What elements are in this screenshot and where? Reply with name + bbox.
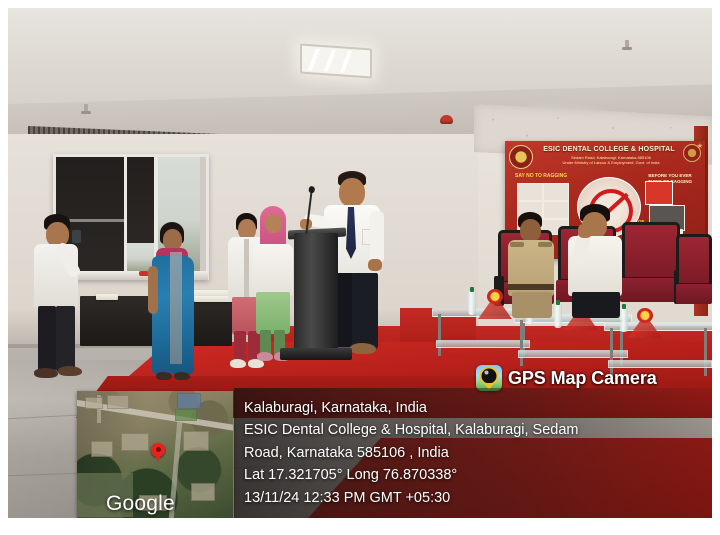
map-location-marker[interactable]: [151, 443, 165, 457]
map-provider-watermark: Google: [106, 492, 175, 516]
map-building: [121, 433, 149, 451]
banner-title: ESIC DENTAL COLLEGE & HOSPITAL: [519, 146, 699, 153]
sandal: [257, 352, 273, 361]
map-building: [177, 393, 201, 409]
sandal: [156, 372, 172, 380]
documents-stack: [96, 294, 118, 300]
app-watermark-title: GPS Map Camera: [508, 368, 657, 389]
geotag-coordinates-line: Lat 17.321705° Long 76.870338°: [244, 464, 706, 486]
map-building: [183, 431, 209, 451]
geotag-timestamp-line: 13/11/24 12:33 PM GMT +05:30: [244, 487, 706, 509]
fire-alarm-bell: [440, 115, 453, 124]
chair-backrest: [676, 234, 712, 286]
shoulder-epaulette: [510, 242, 524, 247]
photograph: ESIC DENTAL COLLEGE & HOSPITAL Sedam Roa…: [8, 8, 712, 518]
podium-base: [280, 348, 352, 360]
leg: [512, 292, 552, 318]
shoe: [58, 366, 82, 376]
sprinkler-head: [84, 104, 88, 113]
geotag-info-block: Kalaburagi, Karnataka, India ESIC Dental…: [244, 397, 706, 509]
map-building: [191, 483, 215, 501]
bouquet-flower: [637, 308, 653, 323]
table-leg: [520, 320, 523, 366]
flower-bouquet: [628, 308, 662, 338]
person-seated-man: [566, 204, 628, 320]
head: [520, 219, 541, 242]
chair-backrest: [622, 222, 680, 280]
chair: [676, 234, 712, 320]
shoe: [350, 343, 376, 354]
leg-trousers: [352, 273, 378, 349]
saree-pallu: [170, 252, 182, 364]
water-bottle: [468, 291, 476, 315]
leg: [56, 306, 75, 372]
photo-page: ESIC DENTAL COLLEGE & HOSPITAL Sedam Roa…: [0, 0, 720, 535]
head: [339, 178, 365, 207]
table-leg: [704, 328, 707, 376]
hand: [578, 224, 592, 238]
shoe: [230, 359, 246, 368]
ceiling-light-panel: [300, 43, 372, 78]
map-building: [91, 441, 113, 457]
banner-corner-mark: ★: [697, 142, 703, 150]
chair-seat: [620, 278, 682, 302]
window-mullion: [124, 157, 127, 271]
person-woman-saree: [148, 222, 200, 386]
map-thumbnail[interactable]: Google: [77, 391, 233, 518]
geotag-region-line: Kalaburagi, Karnataka, India: [244, 397, 706, 419]
phone-in-hand: [72, 230, 81, 243]
shoulder-epaulette: [538, 242, 552, 247]
hand: [368, 259, 382, 271]
shoe: [34, 368, 58, 378]
banner-subtitle-line2: Under Ministry of Labour & Employment, G…: [563, 160, 660, 165]
head: [265, 214, 282, 233]
arm-right: [370, 211, 384, 263]
banner-side-photo: [645, 181, 673, 205]
person-police-officer: [504, 212, 560, 318]
chair-seat: [676, 284, 712, 304]
sandal: [174, 372, 190, 380]
map-sports-ground: [175, 409, 197, 421]
geotag-address-line-1: ESIC Dental College & Hospital, Kalabura…: [244, 419, 706, 441]
sprinkler-head: [625, 40, 629, 49]
map-building: [85, 397, 103, 409]
arm: [148, 266, 158, 314]
uniform-belt: [508, 284, 554, 290]
banner-photo-collage: [517, 183, 543, 201]
leg-kurti: [256, 292, 290, 334]
table-leg: [438, 314, 441, 356]
coat-opening: [244, 239, 249, 297]
leg: [38, 306, 56, 372]
banner-left-heading: SAY NO TO RAGGING: [515, 173, 567, 179]
podium: [294, 233, 338, 355]
chair: [620, 222, 682, 322]
leg: [572, 292, 620, 318]
geotag-address-line-2: Road, Karnataka 585106 , India: [244, 442, 706, 464]
banner-photo-collage: [543, 183, 569, 201]
torso-white-coat: [253, 244, 293, 296]
person-photographer: [32, 214, 94, 384]
banner-subtitle: Sedam Road, Kalaburagi, Karnataka-585106…: [525, 155, 697, 165]
bouquet-flower: [487, 289, 503, 304]
map-building: [107, 395, 129, 409]
